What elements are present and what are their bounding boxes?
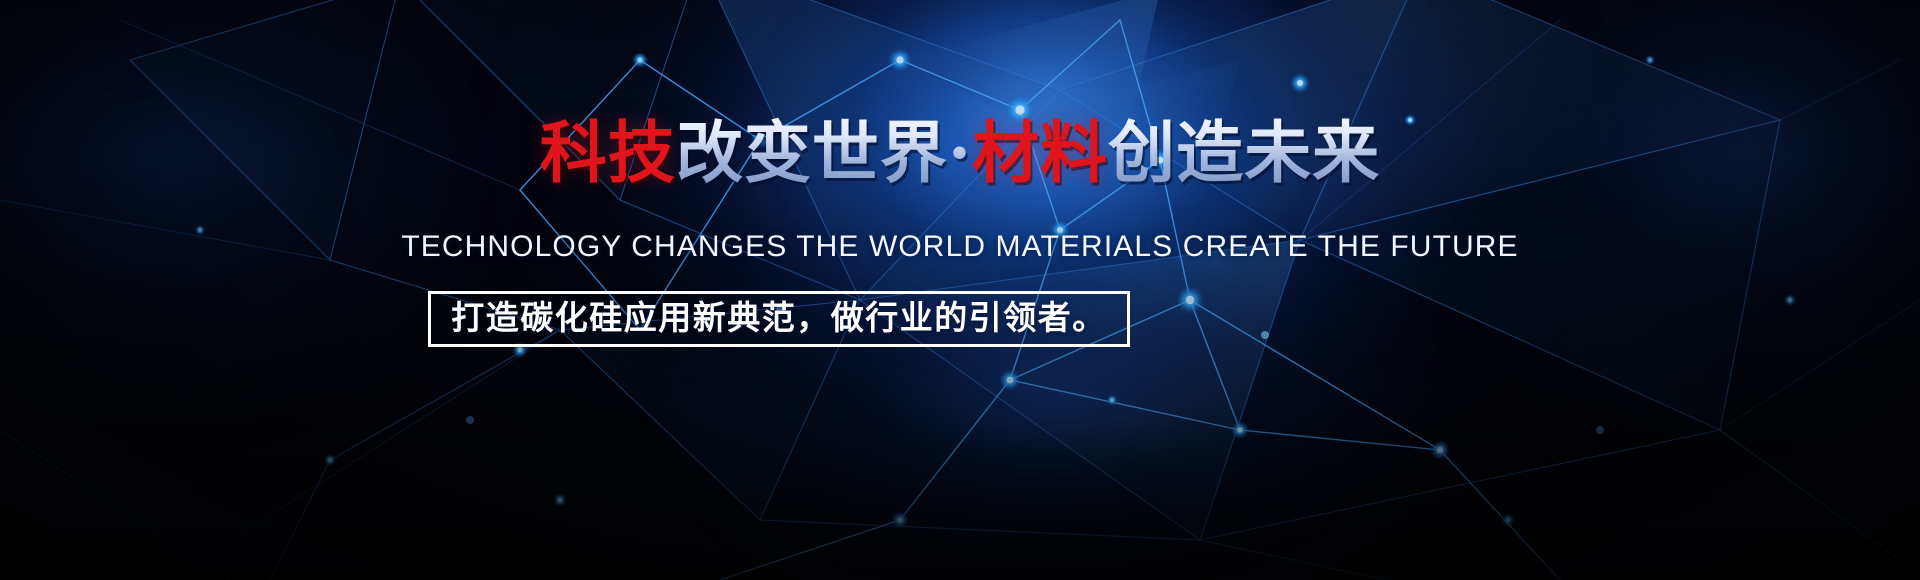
headline-segment-3: 材料 bbox=[972, 116, 1108, 190]
tagline-text: 打造碳化硅应用新典范，做行业的引领者。 bbox=[451, 299, 1107, 337]
headline: 科技改变世界·材料创造未来 bbox=[0, 116, 1920, 190]
headline-segment-1: 科技 bbox=[540, 116, 676, 190]
headline-subtitle-english: TECHNOLOGY CHANGES THE WORLD MATERIALS C… bbox=[0, 230, 1920, 264]
hero-banner: 科技改变世界·材料创造未来 TECHNOLOGY CHANGES THE WOR… bbox=[0, 0, 1920, 580]
headline-segment-2: 改变世界· bbox=[676, 116, 972, 190]
headline-segment-4: 创造未来 bbox=[1108, 116, 1380, 190]
tagline-box: 打造碳化硅应用新典范，做行业的引领者。 bbox=[428, 291, 1130, 347]
